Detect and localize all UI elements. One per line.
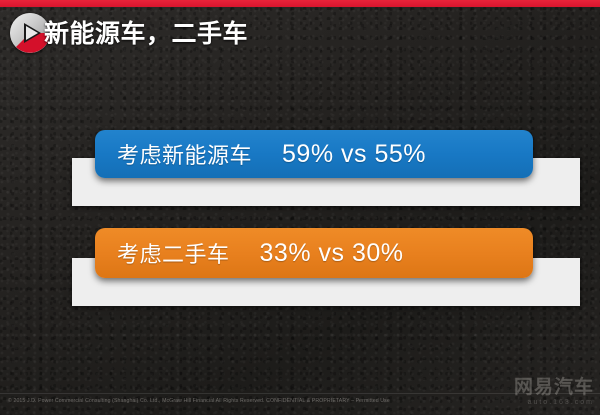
watermark-brand-url: auto.163.com [476,398,594,408]
slide-header: 新能源车，二手车 [0,7,600,57]
page-title: 新能源车，二手车 [44,18,248,50]
stat-pill-used-car[interactable]: 考虑二手车 33% vs 30% [95,228,533,278]
stat-pill-new-energy-vehicle[interactable]: 考虑新能源车 59% vs 55% [95,130,533,178]
stat-value: 59% vs 55% [252,140,426,169]
stat-label: 考虑新能源车 [95,138,252,170]
watermark: 网易汽车 auto.163.com [476,377,594,411]
stat-row-used-car: 考虑二手车 33% vs 30% [0,216,600,308]
slide-canvas: 新能源车，二手车 考虑新能源车 59% vs 55% 考虑二手车 33% vs … [0,0,600,415]
stat-value: 33% vs 30% [230,239,404,268]
stat-label: 考虑二手车 [95,237,230,269]
copyright-notice: © 2015 J.D. Power Commercial Consulting … [8,397,478,405]
watermark-brand-cn: 网易汽车 [476,377,594,398]
stat-row-new-energy-vehicle: 考虑新能源车 59% vs 55% [0,118,600,208]
top-accent-stripe [0,0,600,7]
